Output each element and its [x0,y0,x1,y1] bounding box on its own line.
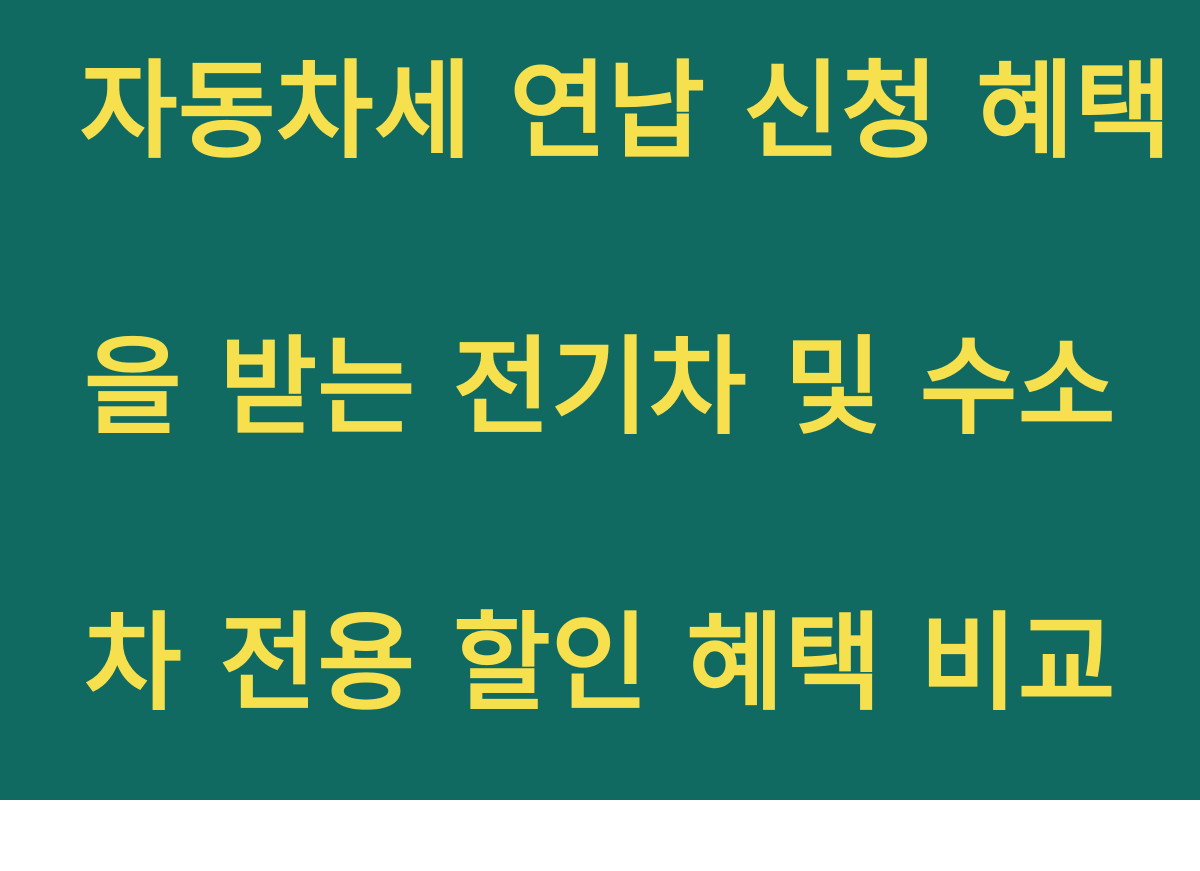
headline-line-1: 자동차세 연납 신청 혜택 [80,43,1120,181]
text-banner-card: 자동차세 연납 신청 혜택 을 받는 전기차 및 수소 차 전용 할인 혜택 비… [0,0,1200,800]
page-title: 자동차세 연납 신청 혜택 을 받는 전기차 및 수소 차 전용 할인 혜택 비… [80,0,1120,871]
headline-line-2: 을 받는 전기차 및 수소 [80,319,1120,457]
headline-line-3: 차 전용 할인 혜택 비교 [80,595,1120,733]
